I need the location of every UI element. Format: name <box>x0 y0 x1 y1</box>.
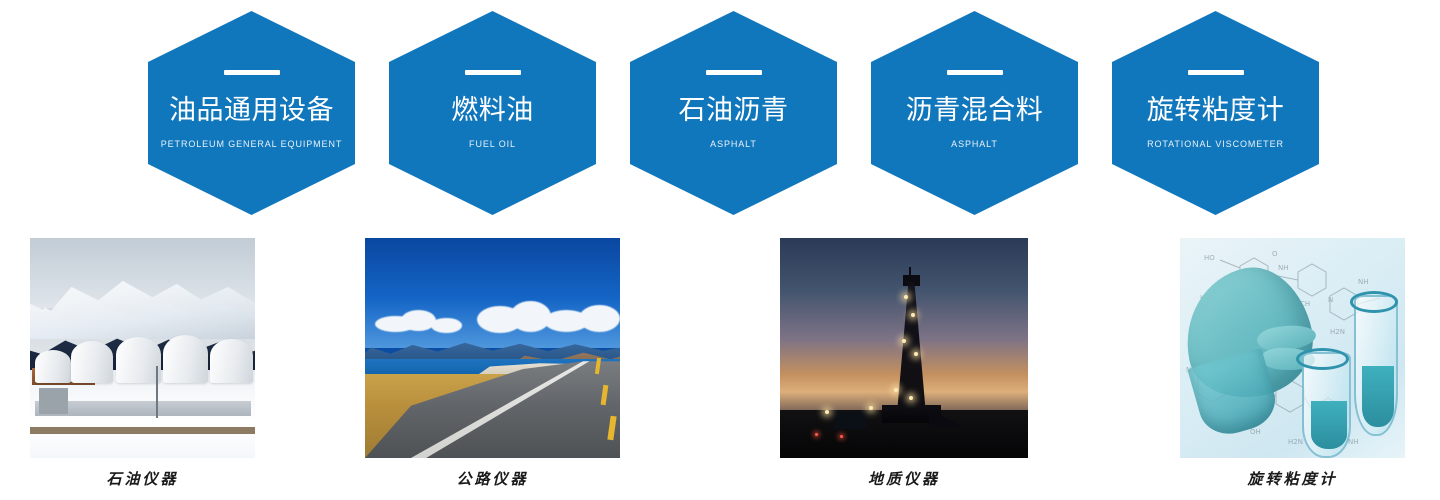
photo-highway-lake <box>365 238 620 458</box>
photo-caption: 旋转粘度计 <box>1180 469 1405 489</box>
divider-rule <box>706 70 762 75</box>
hex-card-title: 燃料油 <box>451 96 534 126</box>
svg-text:OH: OH <box>1250 428 1261 436</box>
photo-card-geological-instrument[interactable]: 地质仪器 <box>780 238 1028 489</box>
photo-drilling-rig <box>780 238 1028 458</box>
hex-card-title: 石油沥青 <box>679 96 789 126</box>
photo-caption: 地质仪器 <box>780 469 1028 489</box>
photo-lab-glassware: HO O NH HO NH CH N H2N N OH H2N NH O <box>1180 238 1405 458</box>
hex-card-fuel-oil[interactable]: 燃料油 FUEL OIL <box>389 11 596 215</box>
photo-caption: 公路仪器 <box>365 469 620 489</box>
hex-card-title: 油品通用设备 <box>169 96 334 126</box>
svg-text:H2N: H2N <box>1288 438 1303 446</box>
product-photo-row: 石油仪器 <box>0 238 1440 500</box>
svg-text:H2N: H2N <box>1330 328 1345 336</box>
svg-text:N: N <box>1328 296 1333 304</box>
photo-card-rotational-viscometer[interactable]: HO O NH HO NH CH N H2N N OH H2N NH O <box>1180 238 1405 489</box>
hex-card-rotational-viscometer[interactable]: 旋转粘度计 ROTATIONAL VISCOMETER <box>1112 11 1319 215</box>
svg-text:O: O <box>1272 250 1278 258</box>
hex-card-asphalt[interactable]: 石油沥青 ASPHALT <box>630 11 837 215</box>
hex-card-asphalt-mixture[interactable]: 沥青混合料 ASPHALT <box>871 11 1078 215</box>
photo-card-petroleum-instrument[interactable]: 石油仪器 <box>30 238 255 489</box>
svg-text:NH: NH <box>1278 264 1289 272</box>
svg-text:HO: HO <box>1204 254 1215 262</box>
hex-card-subtitle: PETROLEUM GENERAL EQUIPMENT <box>161 139 343 150</box>
svg-text:NH: NH <box>1348 438 1359 446</box>
hex-card-subtitle: FUEL OIL <box>469 139 516 150</box>
divider-rule <box>465 70 521 75</box>
photo-card-highway-instrument[interactable]: 公路仪器 <box>365 238 620 489</box>
hex-card-petroleum-general-equipment[interactable]: 油品通用设备 PETROLEUM GENERAL EQUIPMENT <box>148 11 355 215</box>
category-hexagon-row: 油品通用设备 PETROLEUM GENERAL EQUIPMENT 燃料油 F… <box>0 0 1440 220</box>
photo-caption: 石油仪器 <box>30 469 255 489</box>
hex-card-subtitle: ASPHALT <box>951 139 998 150</box>
hex-card-subtitle: ASPHALT <box>710 139 757 150</box>
hex-card-title: 沥青混合料 <box>906 96 1044 126</box>
svg-text:NH: NH <box>1358 278 1369 286</box>
hex-card-title: 旋转粘度计 <box>1147 96 1285 126</box>
photo-petroleum-facility <box>30 238 255 458</box>
divider-rule <box>947 70 1003 75</box>
hex-card-subtitle: ROTATIONAL VISCOMETER <box>1147 139 1284 150</box>
divider-rule <box>224 70 280 75</box>
divider-rule <box>1188 70 1244 75</box>
